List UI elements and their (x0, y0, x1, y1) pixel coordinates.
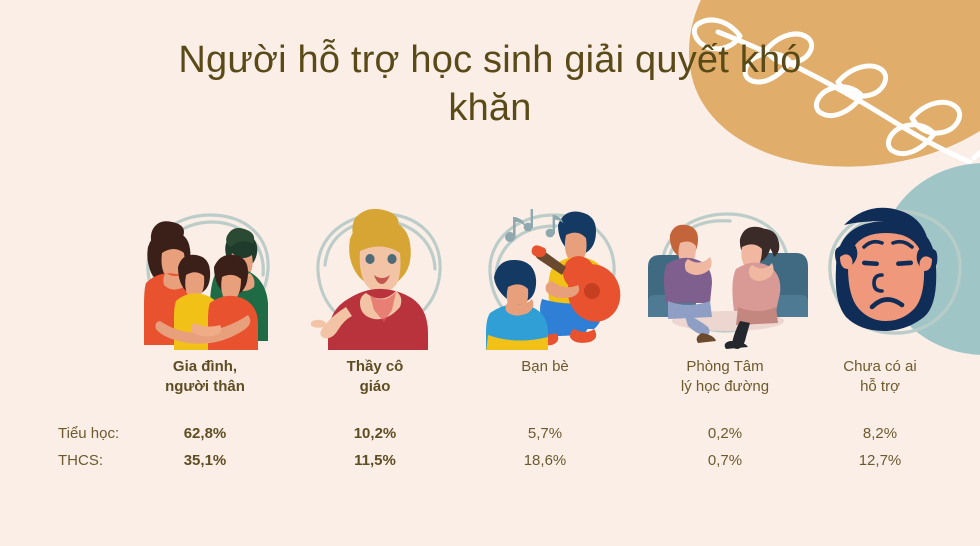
value-counseling-primary: 0,2% (665, 424, 785, 444)
teacher-illustration (292, 195, 467, 350)
page-title: Người hỗ trợ học sinh giải quyết khó khă… (0, 36, 980, 132)
column-illustration-counseling (640, 195, 815, 350)
value-nobody-primary: 8,2% (820, 424, 940, 444)
column-illustration-sad-face (810, 195, 980, 350)
illustration-row (0, 195, 980, 355)
category-label-teacher-line2: giáo (275, 377, 475, 397)
value-friends-primary: 5,7% (485, 424, 605, 444)
value-family-secondary: 35,1% (145, 451, 265, 471)
category-label-nobody-line2: hỗ trợ (780, 377, 980, 397)
value-friends-secondary: 18,6% (485, 451, 605, 471)
value-teacher-secondary: 11,5% (315, 451, 435, 471)
category-label-row: Gia đình, người thân Thầy cô giáo Bạn bè… (0, 357, 980, 412)
category-label-nobody: Chưa có ai hỗ trợ (780, 357, 980, 397)
infographic-slide: Người hỗ trợ học sinh giải quyết khó khă… (0, 0, 980, 546)
value-family-primary: 62,8% (145, 424, 265, 444)
value-counseling-secondary: 0,7% (665, 451, 785, 471)
column-illustration-family (118, 195, 293, 350)
sad-face-illustration (810, 195, 980, 350)
friends-guitar-illustration (466, 195, 641, 350)
category-label-nobody-line1: Chưa có ai (780, 357, 980, 377)
column-illustration-teacher (292, 195, 467, 350)
value-teacher-primary: 10,2% (315, 424, 435, 444)
column-illustration-friends (466, 195, 641, 350)
value-nobody-secondary: 12,7% (820, 451, 940, 471)
family-illustration (118, 195, 293, 350)
category-label-friends: Bạn bè (445, 357, 645, 377)
category-label-friends-line1: Bạn bè (445, 357, 645, 377)
counseling-room-illustration (640, 195, 815, 350)
